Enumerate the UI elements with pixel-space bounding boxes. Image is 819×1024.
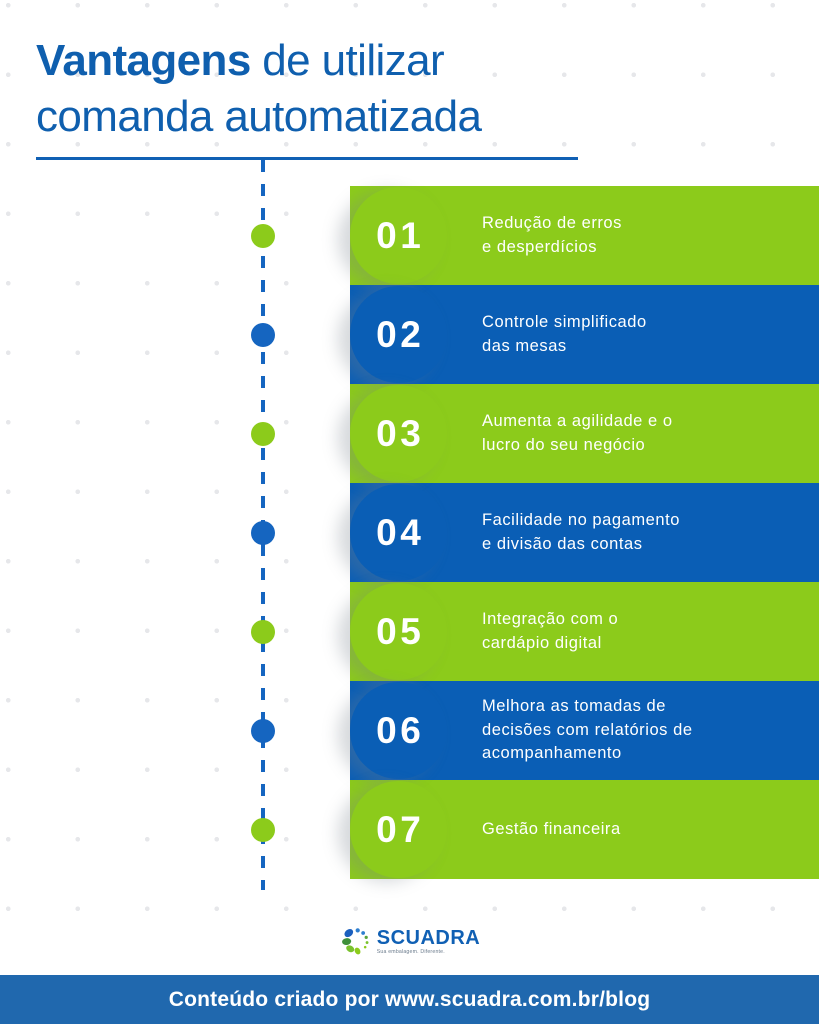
advantage-text: Facilidade no pagamentoe divisão das con… bbox=[482, 483, 801, 582]
infographic-page: Vantagens de utilizar comanda automatiza… bbox=[0, 0, 819, 1024]
timeline-dot bbox=[251, 422, 275, 446]
advantage-text-line: Gestão financeira bbox=[482, 818, 801, 842]
advantage-row[interactable]: Redução de errose desperdícios01 bbox=[0, 186, 819, 285]
advantage-number: 06 bbox=[373, 712, 425, 749]
advantage-number: 07 bbox=[373, 811, 425, 848]
logo-wordmark-block: SCUADRA Sua embalagem. Diferente. bbox=[377, 928, 481, 956]
advantage-text-line: e divisão das contas bbox=[482, 533, 801, 557]
title-line-2: comanda automatizada bbox=[36, 90, 656, 144]
advantage-number-badge: 03 bbox=[350, 385, 447, 482]
timeline-dot bbox=[251, 224, 275, 248]
logo-inner: SCUADRA Sua embalagem. Diferente. bbox=[339, 925, 481, 959]
advantage-text: Redução de errose desperdícios bbox=[482, 186, 801, 285]
advantage-text: Controle simplificadodas mesas bbox=[482, 285, 801, 384]
advantage-number-badge: 04 bbox=[350, 484, 447, 581]
advantage-row[interactable]: Integração com ocardápio digital05 bbox=[0, 582, 819, 681]
timeline-dot bbox=[251, 818, 275, 842]
advantage-text-line: Melhora as tomadas de bbox=[482, 695, 801, 719]
footer-bar: Conteúdo criado por www.scuadra.com.br/b… bbox=[0, 975, 819, 1024]
page-title: Vantagens de utilizar comanda automatiza… bbox=[36, 34, 656, 144]
logo-tagline: Sua embalagem. Diferente. bbox=[377, 949, 445, 956]
advantage-text-line: Integração com o bbox=[482, 608, 801, 632]
advantage-text: Integração com ocardápio digital bbox=[482, 582, 801, 681]
advantage-number-badge: 01 bbox=[350, 187, 447, 284]
timeline-dot bbox=[251, 521, 275, 545]
advantage-number: 02 bbox=[373, 316, 425, 353]
advantage-number: 03 bbox=[373, 415, 425, 452]
advantage-number-badge: 05 bbox=[350, 583, 447, 680]
timeline-dot bbox=[251, 719, 275, 743]
advantages-list: Redução de errose desperdícios01Controle… bbox=[0, 186, 819, 879]
advantage-text-line: Aumenta a agilidade e o bbox=[482, 410, 801, 434]
advantage-text-line: Facilidade no pagamento bbox=[482, 509, 801, 533]
logo-wordmark: SCUADRA bbox=[377, 928, 481, 948]
advantage-text-line: acompanhamento bbox=[482, 742, 801, 766]
advantage-row[interactable]: Gestão financeira07 bbox=[0, 780, 819, 879]
title-underline-divider bbox=[36, 157, 578, 160]
advantage-number: 01 bbox=[373, 217, 425, 254]
scuadra-swirl-icon bbox=[339, 925, 373, 959]
title-line-1-rest: de utilizar bbox=[251, 36, 444, 85]
title-strong-word: Vantagens bbox=[36, 36, 251, 85]
advantage-row[interactable]: Aumenta a agilidade e olucro do seu negó… bbox=[0, 384, 819, 483]
advantage-text: Melhora as tomadas dedecisões com relató… bbox=[482, 681, 801, 780]
timeline-dot bbox=[251, 620, 275, 644]
advantage-text: Aumenta a agilidade e olucro do seu negó… bbox=[482, 384, 801, 483]
advantage-text-line: Controle simplificado bbox=[482, 311, 801, 335]
advantage-text: Gestão financeira bbox=[482, 780, 801, 879]
advantage-row[interactable]: Melhora as tomadas dedecisões com relató… bbox=[0, 681, 819, 780]
advantage-text-line: das mesas bbox=[482, 335, 801, 359]
advantage-text-line: decisões com relatórios de bbox=[482, 719, 801, 743]
advantage-text-line: e desperdícios bbox=[482, 236, 801, 260]
advantage-number: 04 bbox=[373, 514, 425, 551]
advantage-text-line: cardápio digital bbox=[482, 632, 801, 656]
advantage-row[interactable]: Facilidade no pagamentoe divisão das con… bbox=[0, 483, 819, 582]
footer-credit-text: Conteúdo criado por www.scuadra.com.br/b… bbox=[169, 988, 651, 1012]
advantage-number: 05 bbox=[373, 613, 425, 650]
advantage-number-badge: 06 bbox=[350, 682, 447, 779]
advantage-number-badge: 02 bbox=[350, 286, 447, 383]
timeline-dot bbox=[251, 323, 275, 347]
advantage-text-line: lucro do seu negócio bbox=[482, 434, 801, 458]
brand-logo: SCUADRA Sua embalagem. Diferente. bbox=[0, 917, 819, 967]
advantage-number-badge: 07 bbox=[350, 781, 447, 878]
advantage-text-line: Redução de erros bbox=[482, 212, 801, 236]
title-line-1: Vantagens de utilizar bbox=[36, 34, 656, 88]
advantage-row[interactable]: Controle simplificadodas mesas02 bbox=[0, 285, 819, 384]
